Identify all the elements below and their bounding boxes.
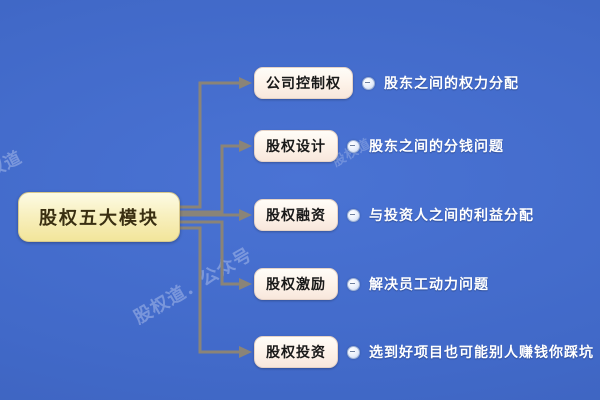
- root-node[interactable]: 股权五大模块: [18, 192, 180, 242]
- branch-description-2: 股东之间的分钱问题: [369, 136, 504, 156]
- mindmap-canvas: 权道 股权道．公众号 股权道 股权五大模块 公司控制权: [0, 0, 600, 400]
- branch-node-label-2: 股权设计: [266, 136, 326, 156]
- branch-row-4: 股权激励 解决员工动力问题: [254, 267, 489, 301]
- branch-node-5[interactable]: 股权投资: [254, 336, 338, 368]
- minus-circle-icon-5[interactable]: [347, 346, 360, 359]
- branch-node-3[interactable]: 股权融资: [254, 199, 338, 231]
- branch-node-2[interactable]: 股权设计: [254, 130, 338, 162]
- connector-path-2: [178, 146, 239, 212]
- root-node-label: 股权五大模块: [39, 204, 159, 230]
- minus-circle-icon-4[interactable]: [347, 278, 360, 291]
- branch-description-1: 股东之间的权力分配: [384, 73, 519, 93]
- arrowhead-4: [239, 278, 252, 290]
- branch-node-label-1: 公司控制权: [266, 73, 341, 93]
- connector-path-5: [178, 228, 239, 352]
- branch-row-2: 股权设计 股东之间的分钱问题: [254, 129, 504, 163]
- branch-row-1: 公司控制权 股东之间的权力分配: [254, 66, 519, 100]
- branch-node-label-3: 股权融资: [266, 205, 326, 225]
- branch-row-3: 股权融资 与投资人之间的利益分配: [254, 198, 534, 232]
- arrowhead-1: [239, 77, 252, 89]
- minus-circle-icon-3[interactable]: [347, 209, 360, 222]
- branch-row-5: 股权投资 选到好项目也可能别人赚钱你踩坑: [254, 335, 594, 369]
- connector-path-1: [178, 83, 239, 207]
- minus-circle-icon-2[interactable]: [347, 140, 360, 153]
- minus-circle-icon-1[interactable]: [362, 77, 375, 90]
- branch-node-label-5: 股权投资: [266, 342, 326, 362]
- branch-description-3: 与投资人之间的利益分配: [369, 205, 534, 225]
- branch-node-label-4: 股权激励: [266, 274, 326, 294]
- connector-path-4: [178, 222, 239, 284]
- branch-node-1[interactable]: 公司控制权: [254, 67, 353, 99]
- arrowhead-5: [239, 346, 252, 358]
- watermark-middle: 股权道．公众号: [128, 240, 256, 329]
- branch-description-5: 选到好项目也可能别人赚钱你踩坑: [369, 342, 594, 362]
- arrowhead-2: [239, 140, 252, 152]
- watermark-left: 权道: [0, 143, 26, 182]
- arrowhead-3: [239, 209, 252, 221]
- branch-node-4[interactable]: 股权激励: [254, 268, 338, 300]
- branch-description-4: 解决员工动力问题: [369, 274, 489, 294]
